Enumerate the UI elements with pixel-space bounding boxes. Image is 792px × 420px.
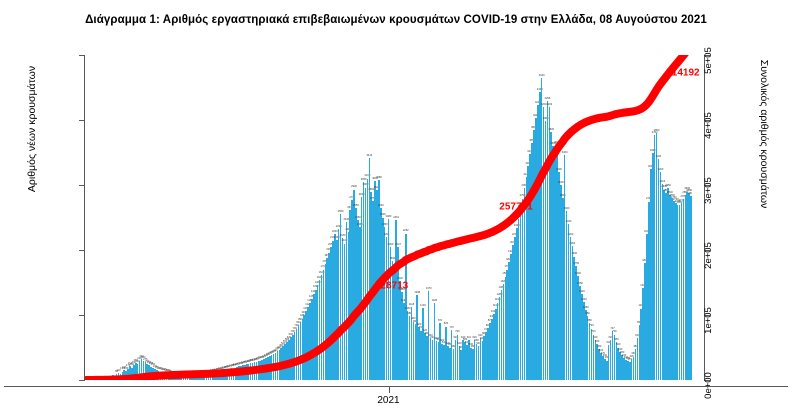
y-tick-left <box>79 120 84 121</box>
y-tick-label-right: 4e+05 <box>703 112 714 139</box>
cumulative-line-series <box>85 55 692 380</box>
y-tick-left <box>79 250 84 251</box>
y-tick-label-right: 3e+05 <box>703 177 714 204</box>
cumulative-value-annotation: 257741 <box>499 202 532 213</box>
y-tick-left <box>79 55 84 56</box>
y-tick-left <box>79 380 84 381</box>
cumulative-value-annotation: 128713 <box>375 281 408 292</box>
y-tick-left <box>79 185 84 186</box>
x-tick-label: 2021 <box>377 395 399 406</box>
x-axis: 2021 <box>0 386 792 420</box>
y-axis-left: 010002000300040005000 Αριθμός νέων κρουσ… <box>0 0 85 420</box>
y-tick-label-right: 2e+05 <box>703 242 714 269</box>
y-axis-right-label: Συνολικός αριθμός κρουσμάτων <box>758 14 770 254</box>
x-tick <box>389 387 390 393</box>
chart-root: Διάγραμμα 1: Αριθμός εργαστηριακά επιβεβ… <box>0 0 792 420</box>
y-tick-label-right: 5e+05 <box>703 47 714 74</box>
plot-inner: 9511013015614017521019023026524029032030… <box>85 55 692 380</box>
chart-title: Διάγραμμα 1: Αριθμός εργαστηριακά επιβεβ… <box>0 14 792 26</box>
plot-area: 9511013015614017521019023026524029032030… <box>85 55 692 380</box>
y-tick-label-right: 1e+05 <box>703 307 714 334</box>
y-axis-right: 0e+001e+052e+053e+054e+055e+05 Συνολικός… <box>692 0 792 420</box>
y-tick-left <box>79 315 84 316</box>
cumulative-line <box>86 55 691 380</box>
y-axis-left-label: Αριθμός νέων κρουσμάτων <box>26 9 38 249</box>
x-axis-spine <box>4 386 788 387</box>
